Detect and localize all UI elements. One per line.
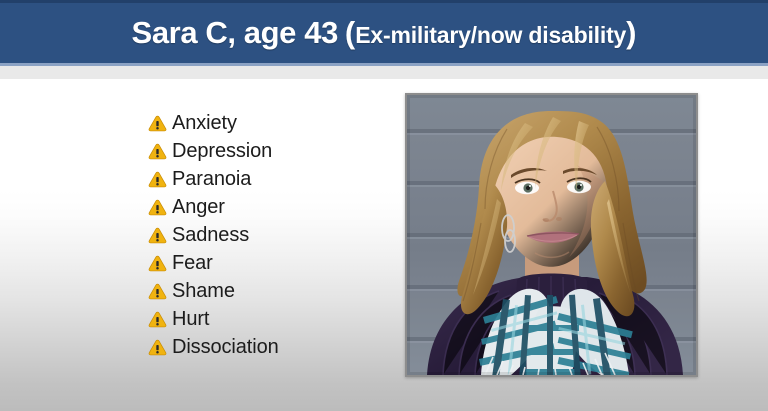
list-item: Hurt bbox=[148, 305, 388, 333]
page-title-main: Sara C, age 43 bbox=[132, 17, 338, 48]
list-item-label: Hurt bbox=[172, 309, 209, 329]
title-paren-close: ) bbox=[626, 17, 636, 48]
list-item-label: Paranoia bbox=[172, 169, 251, 189]
slide-title-bar: Sara C, age 43 ( Ex-military/now disabil… bbox=[0, 0, 768, 63]
list-item: Fear bbox=[148, 249, 388, 277]
list-item: Depression bbox=[148, 137, 388, 165]
list-item: Anger bbox=[148, 193, 388, 221]
warning-triangle-icon bbox=[148, 143, 167, 160]
warning-triangle-icon bbox=[148, 283, 167, 300]
list-item-label: Sadness bbox=[172, 225, 249, 245]
list-item: Sadness bbox=[148, 221, 388, 249]
list-item-label: Anger bbox=[172, 197, 225, 217]
slide-title: Sara C, age 43 ( Ex-military/now disabil… bbox=[132, 17, 637, 48]
list-item: Paranoia bbox=[148, 165, 388, 193]
warning-triangle-icon bbox=[148, 115, 167, 132]
warning-triangle-icon bbox=[148, 255, 167, 272]
list-item: Shame bbox=[148, 277, 388, 305]
portrait-photo-frame bbox=[405, 93, 698, 377]
warning-triangle-icon bbox=[148, 171, 167, 188]
title-bar-shelf bbox=[0, 66, 768, 79]
list-item: Dissociation bbox=[148, 333, 388, 361]
list-item: Anxiety bbox=[148, 109, 388, 137]
list-item-label: Shame bbox=[172, 281, 235, 301]
list-item-label: Anxiety bbox=[172, 113, 237, 133]
page-title-subtitle: Ex-military/now disability bbox=[355, 24, 626, 47]
slide-canvas: Sara C, age 43 ( Ex-military/now disabil… bbox=[0, 0, 768, 411]
warning-triangle-icon bbox=[148, 311, 167, 328]
warning-triangle-icon bbox=[148, 227, 167, 244]
warning-triangle-icon bbox=[148, 339, 167, 356]
title-paren-open: ( bbox=[345, 17, 355, 48]
list-item-label: Dissociation bbox=[172, 337, 279, 357]
portrait-photo bbox=[407, 95, 696, 375]
symptom-list: Anxiety Depression Paranoia bbox=[148, 109, 388, 361]
list-item-label: Depression bbox=[172, 141, 272, 161]
list-item-label: Fear bbox=[172, 253, 213, 273]
warning-triangle-icon bbox=[148, 199, 167, 216]
